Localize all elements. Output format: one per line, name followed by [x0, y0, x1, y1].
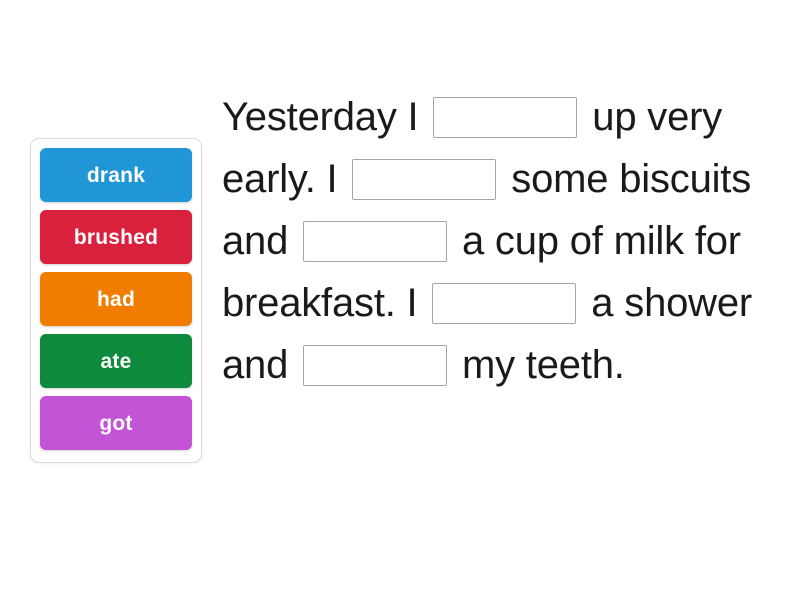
drop-blank-2[interactable]	[352, 159, 496, 200]
cloze-sentence: Yesterday I up very early. I some biscui…	[222, 86, 778, 396]
word-tile-label: had	[97, 289, 135, 310]
word-tile-had[interactable]: had	[40, 272, 192, 326]
word-tile-label: drank	[87, 165, 145, 186]
word-tile-brushed[interactable]: brushed	[40, 210, 192, 264]
word-tile-label: ate	[101, 351, 132, 372]
word-tile-drank[interactable]: drank	[40, 148, 192, 202]
word-bank-panel: drank brushed had ate got	[30, 138, 202, 463]
sentence-text-0: Yesterday I	[222, 95, 429, 139]
word-tile-got[interactable]: got	[40, 396, 192, 450]
drop-blank-1[interactable]	[433, 97, 577, 138]
sentence-text-5: my teeth.	[451, 343, 625, 387]
word-tile-ate[interactable]: ate	[40, 334, 192, 388]
word-tile-label: brushed	[74, 227, 158, 248]
drop-blank-5[interactable]	[303, 345, 447, 386]
word-tile-label: got	[99, 413, 132, 434]
activity-stage: drank brushed had ate got Yesterday I up…	[0, 0, 800, 600]
drop-blank-3[interactable]	[303, 221, 447, 262]
drop-blank-4[interactable]	[432, 283, 576, 324]
